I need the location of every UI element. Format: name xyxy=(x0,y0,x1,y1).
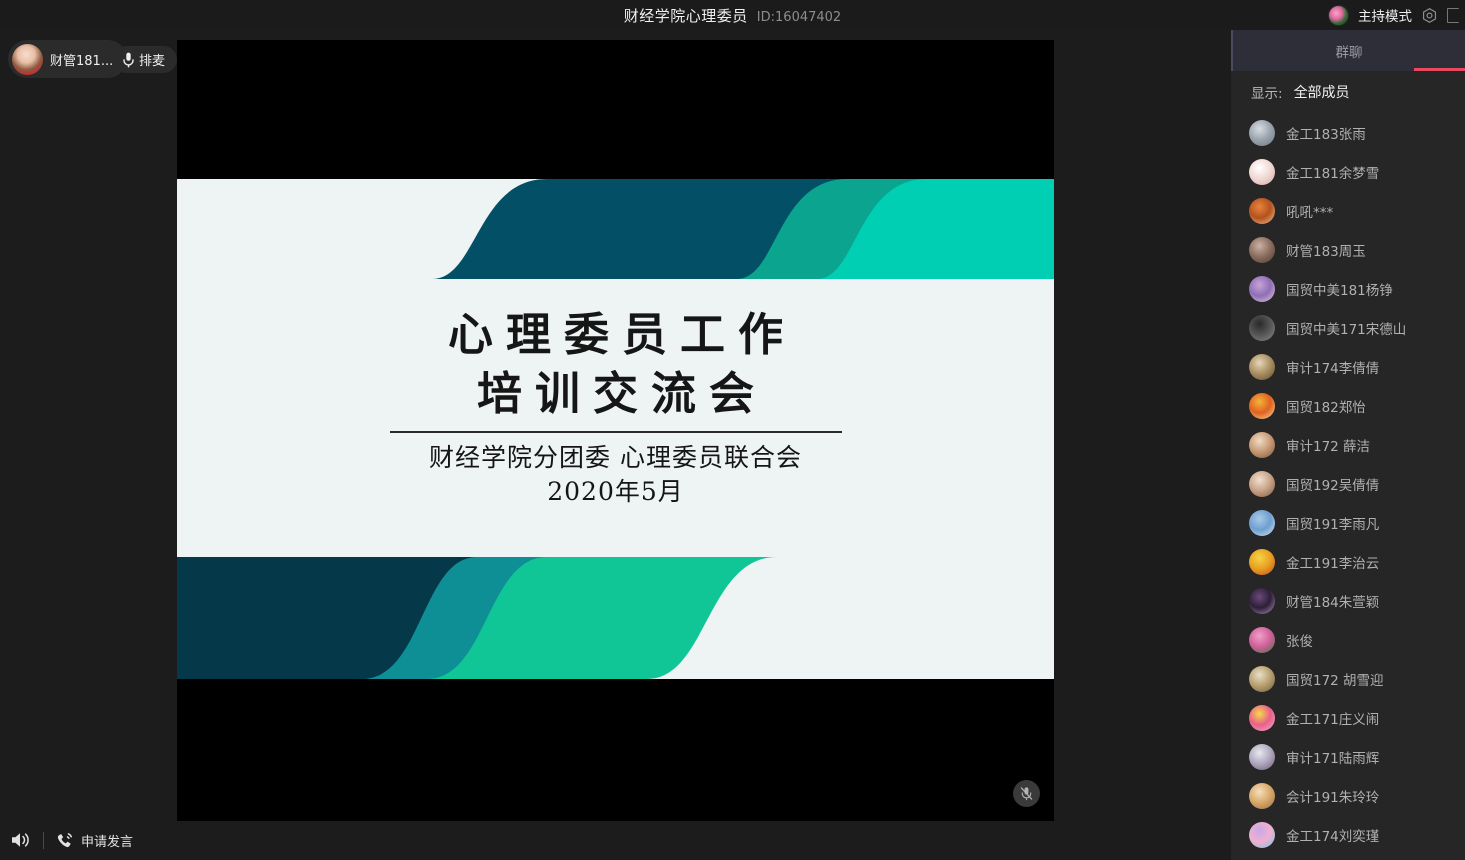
avatar xyxy=(1249,276,1275,302)
presentation-slide: 心理委员工作 培训交流会 财经学院分团委 心理委员联合会 2020年5月 xyxy=(177,179,1054,679)
member-filter-value[interactable]: 全部成员 xyxy=(1294,82,1350,102)
mic-queue-label: 排麦 xyxy=(139,50,165,69)
list-item[interactable]: 金工181余梦雪 xyxy=(1231,152,1465,191)
microphone-muted-icon xyxy=(1013,780,1040,807)
tab-active-accent-bar xyxy=(1414,68,1465,71)
window-restore-icon[interactable] xyxy=(1447,8,1459,23)
phone-call-icon xyxy=(55,831,74,850)
member-name: 审计174李倩倩 xyxy=(1286,357,1379,377)
avatar xyxy=(1249,549,1275,575)
avatar xyxy=(1249,627,1275,653)
slide-divider-rule xyxy=(390,431,842,433)
list-item[interactable]: 金工191李治云 xyxy=(1231,542,1465,581)
slide-title-line-1: 心理委员工作 xyxy=(435,305,796,364)
host-avatar xyxy=(1328,5,1349,26)
member-name: 金工181余梦雪 xyxy=(1286,162,1379,182)
list-item[interactable]: 国贸172 胡雪迎 xyxy=(1231,659,1465,698)
avatar xyxy=(1249,159,1275,185)
list-item[interactable]: 国贸中美181杨铮 xyxy=(1231,269,1465,308)
member-name: 审计172 薛洁 xyxy=(1286,435,1370,455)
member-name: 金工191李治云 xyxy=(1286,552,1379,572)
avatar xyxy=(1249,744,1275,770)
mic-queue-button[interactable]: 排麦 xyxy=(113,46,177,73)
list-item[interactable]: 国贸191李雨凡 xyxy=(1231,503,1465,542)
avatar xyxy=(12,44,43,75)
member-name: 财管183周玉 xyxy=(1286,240,1366,260)
avatar xyxy=(1249,198,1275,224)
member-filter-label: 显示: xyxy=(1251,82,1283,102)
member-name: 国贸172 胡雪迎 xyxy=(1286,669,1384,689)
avatar xyxy=(1249,432,1275,458)
avatar xyxy=(1249,783,1275,809)
slide-bottom-decoration xyxy=(177,557,1054,679)
member-name: 国贸中美181杨铮 xyxy=(1286,279,1393,299)
avatar xyxy=(1249,822,1275,848)
avatar xyxy=(1249,393,1275,419)
list-item[interactable]: 国贸192吴倩倩 xyxy=(1231,464,1465,503)
self-user-chip[interactable]: 财管181... xyxy=(8,40,127,78)
avatar xyxy=(1249,666,1275,692)
screen-share-stage[interactable]: 心理委员工作 培训交流会 财经学院分团委 心理委员联合会 2020年5月 xyxy=(177,40,1054,821)
slide-top-decoration xyxy=(177,179,1054,279)
page-title: 财经学院心理委员 xyxy=(624,5,748,26)
avatar xyxy=(1249,510,1275,536)
list-item[interactable]: 金工174刘奕瑾 xyxy=(1231,815,1465,854)
list-item[interactable]: 国贸182郑怡 xyxy=(1231,386,1465,425)
self-user-name: 财管181... xyxy=(50,50,113,69)
microphone-icon xyxy=(123,52,134,68)
speaker-volume-icon[interactable] xyxy=(10,831,32,849)
avatar xyxy=(1249,705,1275,731)
member-name: 金工174刘奕瑾 xyxy=(1286,825,1379,845)
list-item[interactable]: 金工183张雨 xyxy=(1231,113,1465,152)
list-item[interactable]: 审计172 薛洁 xyxy=(1231,425,1465,464)
member-name: 会计191朱玲玲 xyxy=(1286,786,1379,806)
avatar xyxy=(1249,471,1275,497)
host-mode-label: 主持模式 xyxy=(1358,5,1412,25)
member-name: 金工183张雨 xyxy=(1286,123,1366,143)
toolbar-divider xyxy=(43,832,44,849)
list-item[interactable]: 金工171庄义闹 xyxy=(1231,698,1465,737)
titlebar-right-controls: 主持模式 xyxy=(1328,0,1459,30)
slide-subtitle: 财经学院分团委 心理委员联合会 xyxy=(429,441,802,475)
member-name: 国贸182郑怡 xyxy=(1286,396,1366,416)
list-item[interactable]: 财管183周玉 xyxy=(1231,230,1465,269)
avatar xyxy=(1249,120,1275,146)
member-name: 国贸191李雨凡 xyxy=(1286,513,1379,533)
list-item[interactable]: 审计174李倩倩 xyxy=(1231,347,1465,386)
member-name: 国贸中美171宋德山 xyxy=(1286,318,1406,338)
avatar xyxy=(1249,588,1275,614)
speak-request-label: 申请发言 xyxy=(81,831,133,850)
member-name: 财管184朱萱颖 xyxy=(1286,591,1379,611)
meeting-id-label: ID:16047402 xyxy=(757,10,841,25)
tab-group-chat[interactable]: 群聊 xyxy=(1231,30,1465,71)
panel-tab-bar: 群聊 xyxy=(1231,30,1465,71)
speak-request-button[interactable]: 申请发言 xyxy=(55,831,133,850)
title-bar: 财经学院心理委员 ID:16047402 主持模式 xyxy=(0,0,1465,30)
list-item[interactable]: 会计191朱玲玲 xyxy=(1231,776,1465,815)
member-name: 审计171陆雨辉 xyxy=(1286,747,1379,767)
bottom-toolbar: 申请发言 xyxy=(0,820,1231,860)
avatar xyxy=(1249,315,1275,341)
member-name: 吼吼*** xyxy=(1286,201,1333,221)
member-name: 张俊 xyxy=(1286,630,1313,650)
list-item[interactable]: 国贸中美171宋德山 xyxy=(1231,308,1465,347)
list-item[interactable]: 张俊 xyxy=(1231,620,1465,659)
list-item[interactable]: 财管184朱萱颖 xyxy=(1231,581,1465,620)
list-item[interactable]: 审计171陆雨辉 xyxy=(1231,737,1465,776)
slide-date: 2020年5月 xyxy=(547,475,684,509)
hex-gear-icon[interactable] xyxy=(1421,7,1438,24)
member-filter-row: 显示: 全部成员 xyxy=(1231,71,1465,113)
member-list[interactable]: 金工183张雨金工181余梦雪吼吼***财管183周玉国贸中美181杨铮国贸中美… xyxy=(1231,113,1465,860)
meeting-title-group: 财经学院心理委员 ID:16047402 xyxy=(624,5,841,26)
tab-group-chat-label: 群聊 xyxy=(1336,41,1363,61)
member-name: 国贸192吴倩倩 xyxy=(1286,474,1379,494)
avatar xyxy=(1249,237,1275,263)
member-name: 金工171庄义闹 xyxy=(1286,708,1379,728)
slide-text-block: 心理委员工作 培训交流会 财经学院分团委 心理委员联合会 2020年5月 xyxy=(177,305,1054,508)
avatar xyxy=(1249,354,1275,380)
slide-title-line-2: 培训交流会 xyxy=(464,364,767,423)
right-side-panel: 群聊 显示: 全部成员 金工183张雨金工181余梦雪吼吼***财管183周玉国… xyxy=(1231,30,1465,860)
list-item[interactable]: 吼吼*** xyxy=(1231,191,1465,230)
